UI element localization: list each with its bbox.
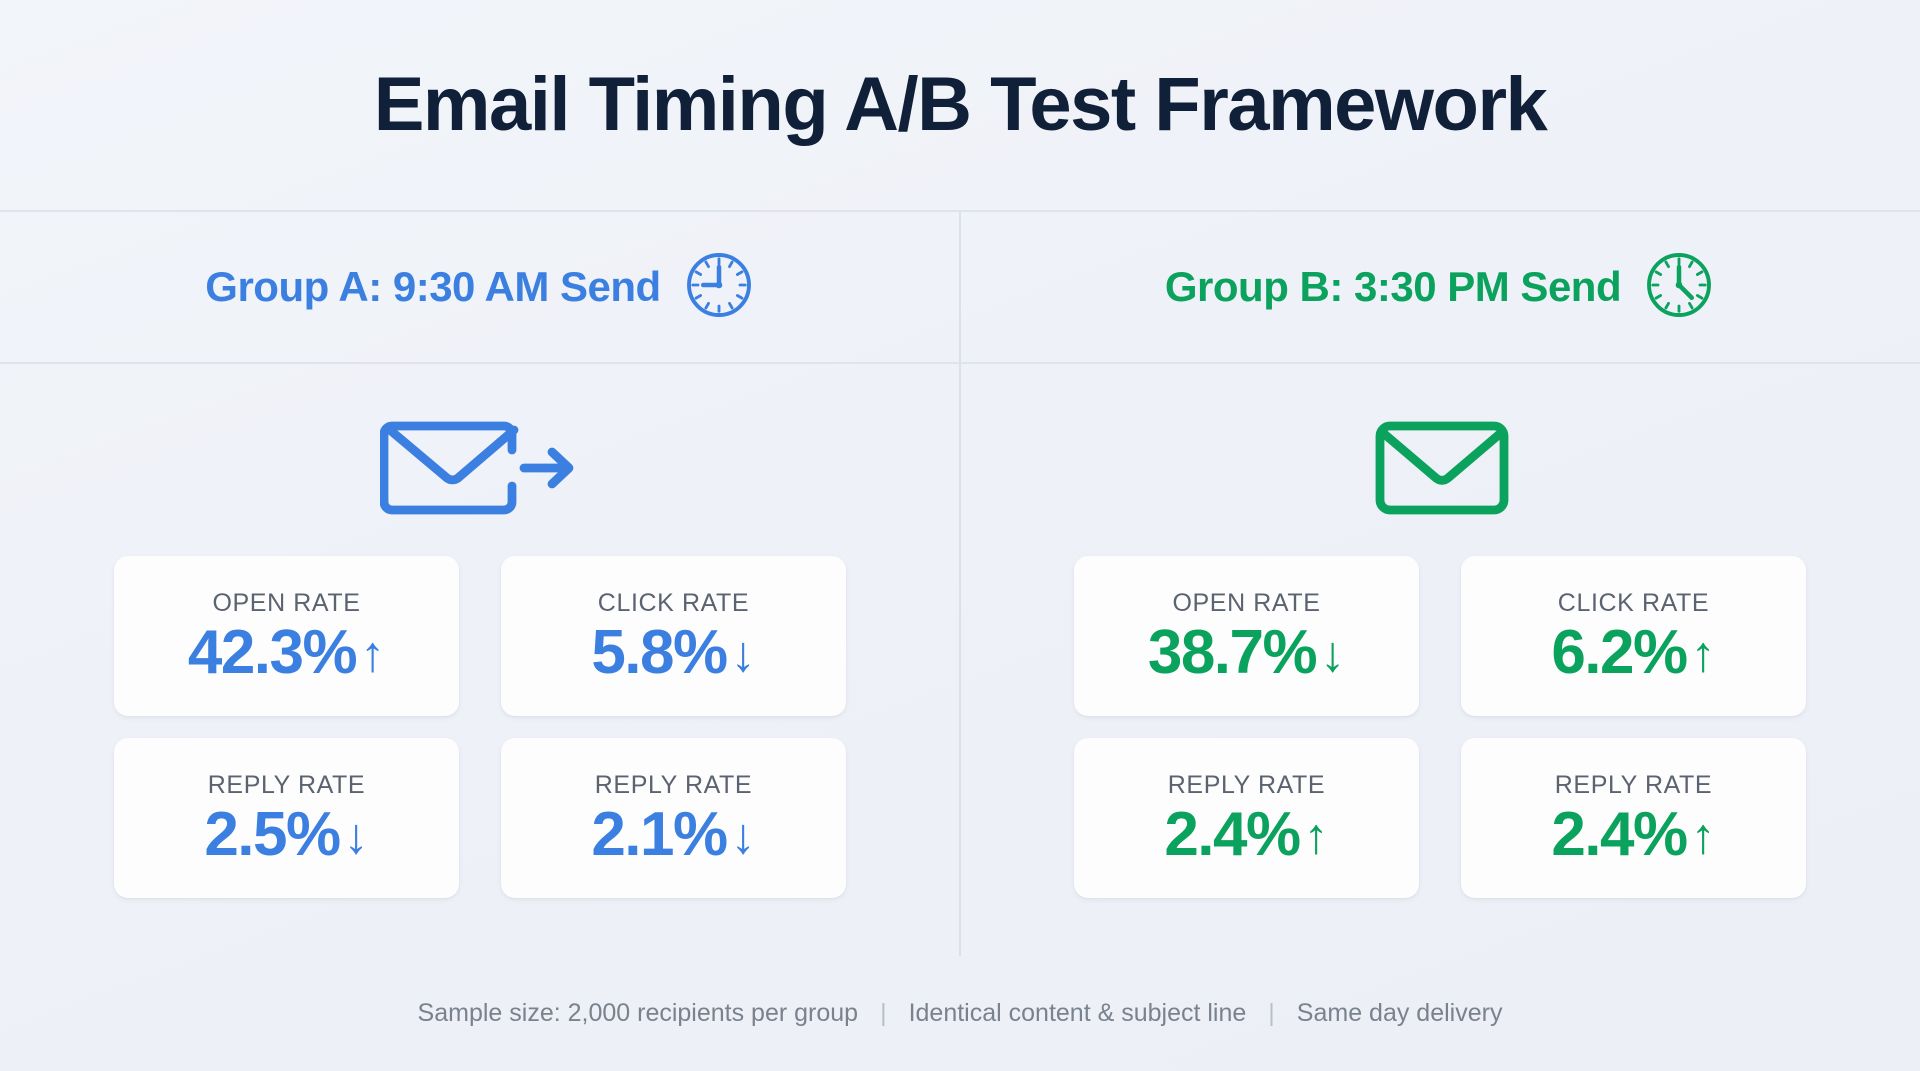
envelope-icon bbox=[1340, 388, 1540, 548]
metric-card[interactable]: CLICK RATE 6.2% ↑ bbox=[1461, 556, 1806, 716]
metric-card[interactable]: CLICK RATE 5.8% ↓ bbox=[501, 556, 846, 716]
metric-value-line: 5.8% ↓ bbox=[591, 622, 755, 684]
footer-sample-size: Sample size: 2,000 recipients per group bbox=[396, 999, 881, 1028]
metric-value: 42.3% bbox=[188, 622, 356, 684]
metric-value: 2.4% bbox=[1164, 804, 1299, 866]
group-b-header: Group B: 3:30 PM Send bbox=[960, 212, 1920, 362]
metric-value: 38.7% bbox=[1148, 622, 1316, 684]
metric-label: REPLY RATE bbox=[595, 771, 752, 800]
metric-label: REPLY RATE bbox=[1555, 771, 1712, 800]
group-a-header: Group A: 9:30 AM Send bbox=[0, 212, 960, 362]
column-divider bbox=[959, 212, 961, 956]
metric-card[interactable]: OPEN RATE 42.3% ↑ bbox=[114, 556, 459, 716]
clock-9-oclock-icon bbox=[683, 249, 755, 326]
metric-card[interactable]: REPLY RATE 2.4% ↑ bbox=[1074, 738, 1419, 898]
comparison-body: OPEN RATE 42.3% ↑ CLICK RATE 5.8% ↓ REPL… bbox=[0, 364, 1920, 956]
page-title: Email Timing A/B Test Framework bbox=[374, 67, 1547, 143]
envelope-send-icon bbox=[380, 388, 580, 548]
footer-identical-content: Identical content & subject line bbox=[887, 999, 1269, 1028]
metric-card[interactable]: REPLY RATE 2.4% ↑ bbox=[1461, 738, 1806, 898]
trend-arrow-icon: ↑ bbox=[360, 629, 385, 679]
clock-4-oclock-icon bbox=[1643, 249, 1715, 326]
trend-arrow-icon: ↓ bbox=[1320, 629, 1345, 679]
trend-arrow-icon: ↓ bbox=[731, 629, 756, 679]
metric-value-line: 38.7% ↓ bbox=[1148, 622, 1345, 684]
metric-value: 2.4% bbox=[1551, 804, 1686, 866]
footer-notes: Sample size: 2,000 recipients per group … bbox=[0, 956, 1920, 1071]
group-a-column: OPEN RATE 42.3% ↑ CLICK RATE 5.8% ↓ REPL… bbox=[0, 364, 960, 956]
metric-label: REPLY RATE bbox=[1168, 771, 1325, 800]
metric-value: 2.1% bbox=[591, 804, 726, 866]
trend-arrow-icon: ↑ bbox=[1691, 811, 1716, 861]
metric-value: 2.5% bbox=[204, 804, 339, 866]
metric-value: 5.8% bbox=[591, 622, 726, 684]
metric-value-line: 2.1% ↓ bbox=[591, 804, 755, 866]
metric-label: CLICK RATE bbox=[598, 589, 749, 618]
group-a-metrics: OPEN RATE 42.3% ↑ CLICK RATE 5.8% ↓ REPL… bbox=[114, 556, 846, 898]
metric-value-line: 42.3% ↑ bbox=[188, 622, 385, 684]
metric-value-line: 2.4% ↑ bbox=[1551, 804, 1715, 866]
metric-card[interactable]: OPEN RATE 38.7% ↓ bbox=[1074, 556, 1419, 716]
metric-value: 6.2% bbox=[1551, 622, 1686, 684]
title-bar: Email Timing A/B Test Framework bbox=[0, 0, 1920, 212]
footer-same-day-delivery: Same day delivery bbox=[1275, 999, 1525, 1028]
group-b-column: OPEN RATE 38.7% ↓ CLICK RATE 6.2% ↑ REPL… bbox=[960, 364, 1920, 956]
trend-arrow-icon: ↓ bbox=[344, 811, 369, 861]
metric-value-line: 2.4% ↑ bbox=[1164, 804, 1328, 866]
trend-arrow-icon: ↑ bbox=[1304, 811, 1329, 861]
metric-label: CLICK RATE bbox=[1558, 589, 1709, 618]
metric-label: OPEN RATE bbox=[1172, 589, 1320, 618]
metric-label: REPLY RATE bbox=[208, 771, 365, 800]
group-b-metrics: OPEN RATE 38.7% ↓ CLICK RATE 6.2% ↑ REPL… bbox=[1074, 556, 1806, 898]
metric-label: OPEN RATE bbox=[212, 589, 360, 618]
metric-value-line: 6.2% ↑ bbox=[1551, 622, 1715, 684]
group-a-title: Group A: 9:30 AM Send bbox=[205, 266, 660, 308]
metric-card[interactable]: REPLY RATE 2.5% ↓ bbox=[114, 738, 459, 898]
group-b-title: Group B: 3:30 PM Send bbox=[1165, 266, 1621, 308]
metric-value-line: 2.5% ↓ bbox=[204, 804, 368, 866]
trend-arrow-icon: ↑ bbox=[1691, 629, 1716, 679]
metric-card[interactable]: REPLY RATE 2.1% ↓ bbox=[501, 738, 846, 898]
trend-arrow-icon: ↓ bbox=[731, 811, 756, 861]
